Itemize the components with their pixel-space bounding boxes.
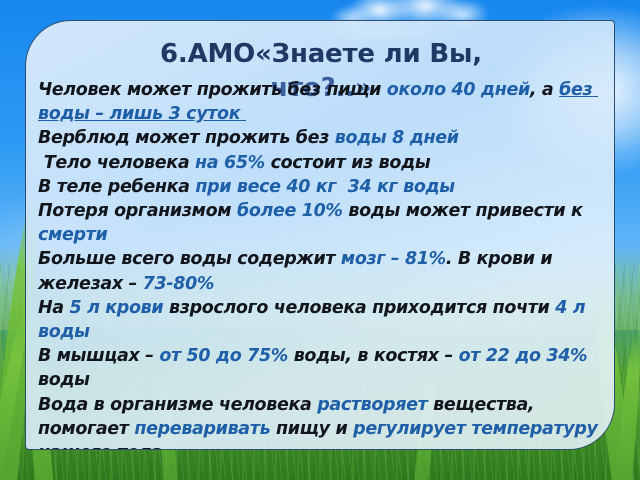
fact-text-run: Человек может прожить без пищи	[38, 80, 387, 100]
fact-text-run: воды, в костях –	[288, 346, 459, 366]
fact-text-run: от 50 до 75%	[159, 346, 288, 366]
fact-text-run: на 65%	[195, 153, 265, 173]
slide-title-line-1: 6.АМО«Знаете ли Вы,	[26, 37, 615, 71]
fact-text-run: воды 8 дней	[335, 128, 459, 148]
fact-line: В мышцах – от 50 до 75% воды, в костях –…	[38, 344, 615, 392]
fact-line: Больше всего воды содержит мозг – 81%. В…	[38, 247, 615, 295]
fact-text-run: Верблюд может прожить без	[38, 128, 335, 148]
content-panel: 6.АМО«Знаете ли Вы, что?..» Человек може…	[25, 20, 615, 450]
fact-line: На 5 л крови взрослого человека приходит…	[38, 296, 615, 344]
fact-text-run: при весе 40 кг 34 кг воды	[195, 177, 454, 197]
fact-text-run: Вода в организме человека	[38, 395, 317, 415]
fact-text-run: Потеря организмом	[38, 201, 237, 221]
fact-line: Человек может прожить без пищи около 40 …	[38, 78, 615, 126]
fact-text-run: Тело человека	[38, 153, 195, 173]
fact-text-run: около 40 дней	[387, 80, 530, 100]
fact-text-run: 73-80%	[143, 274, 214, 294]
fact-text-run: пищу и	[270, 419, 353, 439]
fact-text-run: В мышцах –	[38, 346, 159, 366]
fact-text-run: более 10%	[237, 201, 343, 221]
fact-text-run: переваривать	[134, 419, 270, 439]
fact-text-run: растворяет	[317, 395, 427, 415]
fact-text-run: 5 л крови	[70, 298, 164, 318]
fact-line: Потеря организмом более 10% воды может п…	[38, 199, 615, 247]
fact-text-run: На	[38, 298, 70, 318]
facts-list: Человек может прожить без пищи около 40 …	[38, 78, 615, 450]
fact-text-run: от 22 до 34%	[459, 346, 588, 366]
fact-text-run: Больше всего воды содержит	[38, 249, 341, 269]
fact-text-run: , а	[530, 80, 559, 100]
fact-line: Верблюд может прожить без воды 8 дней	[38, 126, 615, 150]
fact-line: Тело человека на 65% состоит из воды	[38, 151, 615, 175]
fact-text-run: состоит из воды	[265, 153, 431, 173]
fact-text-run: смерти	[38, 225, 107, 245]
fact-text-run: регулирует температуру	[353, 419, 597, 439]
fact-text-run: воды может привести к	[343, 201, 589, 221]
fact-text-run: взрослого человека приходится почти	[163, 298, 555, 318]
fact-text-run: В теле ребенка	[38, 177, 195, 197]
fact-line: Вода в организме человека растворяет вещ…	[38, 393, 615, 450]
presentation-slide: 6.АМО«Знаете ли Вы, что?..» Человек може…	[0, 0, 640, 480]
fact-line: В теле ребенка при весе 40 кг 34 кг воды	[38, 175, 615, 199]
fact-text-run: мозг – 81%	[341, 249, 446, 269]
